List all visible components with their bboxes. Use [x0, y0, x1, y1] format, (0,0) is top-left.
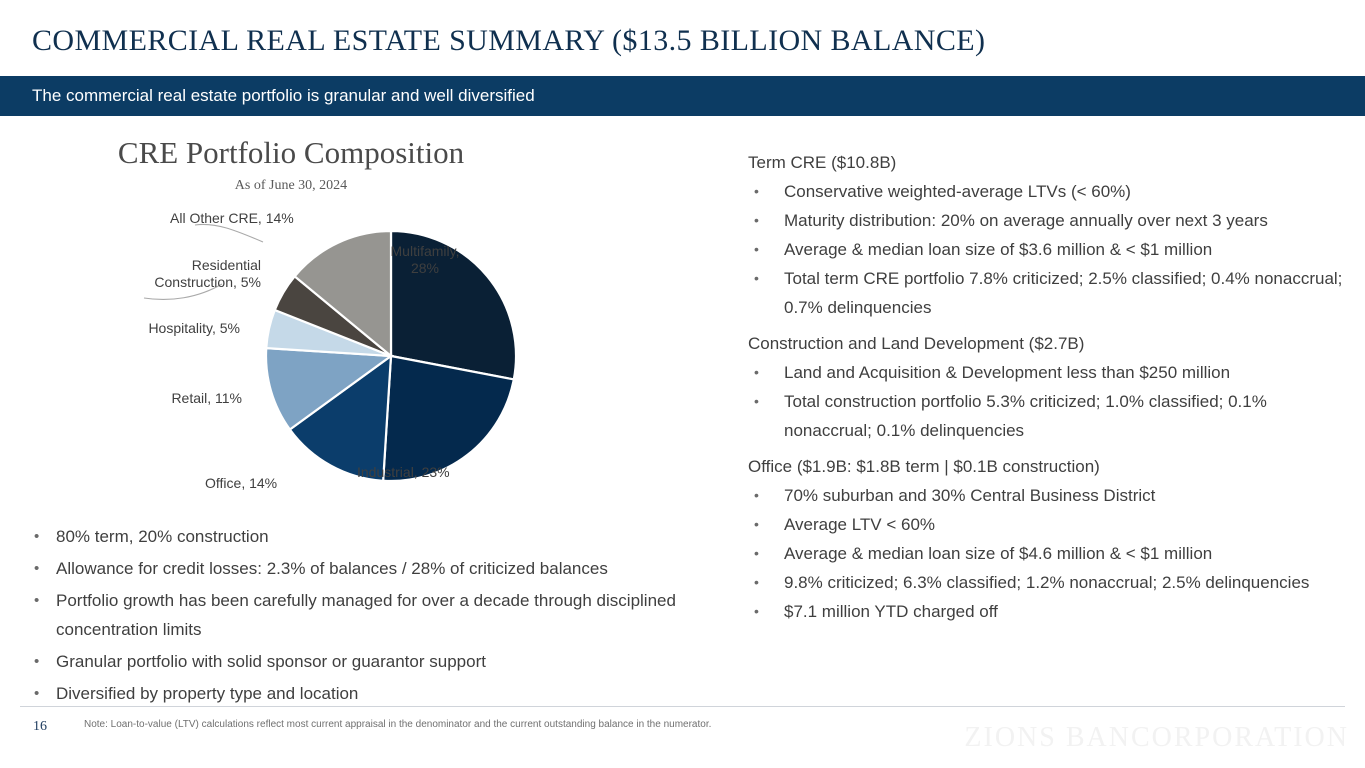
- bullet-dot-icon: •: [748, 568, 784, 597]
- bullet-dot-icon: •: [748, 264, 784, 293]
- pie-label-all-other-cre: All Other CRE, 14%: [170, 210, 294, 227]
- section-bullet-text: Maturity distribution: 20% on average an…: [784, 206, 1268, 235]
- left-bullet-text: Granular portfolio with solid sponsor or…: [56, 647, 486, 676]
- cre-portfolio-pie-chart: CRE Portfolio Composition As of June 30,…: [20, 130, 730, 505]
- section-bullet-item: •Maturity distribution: 20% on average a…: [748, 206, 1348, 235]
- pie-label-industrial: Industrial, 23%: [357, 464, 450, 481]
- footer-divider: [20, 706, 1345, 707]
- section-bullet-item: •Average & median loan size of $4.6 mill…: [748, 539, 1348, 568]
- bullet-dot-icon: •: [748, 481, 784, 510]
- subtitle-band: The commercial real estate portfolio is …: [0, 76, 1365, 116]
- leader-line-all-other-cre: [195, 224, 263, 242]
- section-bullet-text: Average & median loan size of $3.6 milli…: [784, 235, 1212, 264]
- left-bullet-item: •80% term, 20% construction: [28, 522, 738, 551]
- left-bullet-text: 80% term, 20% construction: [56, 522, 269, 551]
- bullet-dot-icon: •: [28, 554, 56, 583]
- section-heading: Office ($1.9B: $1.8B term | $0.1B constr…: [748, 454, 1348, 480]
- left-bullet-text: Diversified by property type and locatio…: [56, 679, 358, 708]
- left-bullet-text: Allowance for credit losses: 2.3% of bal…: [56, 554, 608, 583]
- section-bullet-text: Conservative weighted-average LTVs (< 60…: [784, 177, 1131, 206]
- pie-svg: [20, 130, 730, 505]
- bullet-dot-icon: •: [748, 387, 784, 416]
- bullet-dot-icon: •: [748, 597, 784, 626]
- bullet-dot-icon: •: [28, 679, 56, 708]
- bullet-dot-icon: •: [28, 647, 56, 676]
- footnote-text: Note: Loan-to-value (LTV) calculations r…: [84, 719, 711, 730]
- section-bullet-text: Total term CRE portfolio 7.8% criticized…: [784, 264, 1348, 322]
- section-bullet-text: Land and Acquisition & Development less …: [784, 358, 1230, 387]
- section-bullet-item: •Total term CRE portfolio 7.8% criticize…: [748, 264, 1348, 322]
- subtitle-text: The commercial real estate portfolio is …: [32, 86, 535, 106]
- pie-label-residential-construction: Residential Construction, 5%: [131, 257, 261, 291]
- section-bullet-item: •Land and Acquisition & Development less…: [748, 358, 1348, 387]
- section-bullet-item: •Average & median loan size of $3.6 mill…: [748, 235, 1348, 264]
- left-bullet-item: •Allowance for credit losses: 2.3% of ba…: [28, 554, 738, 583]
- bullet-dot-icon: •: [748, 539, 784, 568]
- pie-label-retail: Retail, 11%: [162, 390, 242, 407]
- section-bullet-item: •70% suburban and 30% Central Business D…: [748, 481, 1348, 510]
- section-bullet-item: •Conservative weighted-average LTVs (< 6…: [748, 177, 1348, 206]
- pie-label-office: Office, 14%: [205, 475, 277, 492]
- right-detail-column: Term CRE ($10.8B)•Conservative weighted-…: [748, 150, 1348, 626]
- pie-slice-industrial: [383, 356, 514, 481]
- section-bullet-item: •9.8% criticized; 6.3% classified; 1.2% …: [748, 568, 1348, 597]
- left-bullet-item: •Portfolio growth has been carefully man…: [28, 586, 738, 644]
- pie-label-multifamily: Multifamily, 28%: [375, 243, 475, 277]
- page-title: COMMERCIAL REAL ESTATE SUMMARY ($13.5 BI…: [32, 24, 985, 58]
- bullet-dot-icon: •: [28, 586, 56, 615]
- bullet-dot-icon: •: [748, 358, 784, 387]
- section-bullet-item: •Total construction portfolio 5.3% criti…: [748, 387, 1348, 445]
- section-bullet-text: Average & median loan size of $4.6 milli…: [784, 539, 1212, 568]
- bullet-dot-icon: •: [748, 510, 784, 539]
- bullet-dot-icon: •: [748, 177, 784, 206]
- pie-label-hospitality: Hospitality, 5%: [140, 320, 240, 337]
- left-bullet-item: •Granular portfolio with solid sponsor o…: [28, 647, 738, 676]
- section-bullet-text: 9.8% criticized; 6.3% classified; 1.2% n…: [784, 568, 1309, 597]
- section-bullet-text: 70% suburban and 30% Central Business Di…: [784, 481, 1155, 510]
- section-bullet-text: Total construction portfolio 5.3% critic…: [784, 387, 1348, 445]
- section-heading: Construction and Land Development ($2.7B…: [748, 331, 1348, 357]
- bullet-dot-icon: •: [748, 235, 784, 264]
- section-bullet-item: •Average LTV < 60%: [748, 510, 1348, 539]
- pie-graphic-area: All Other CRE, 14% Residential Construct…: [20, 130, 730, 505]
- page-number: 16: [33, 719, 47, 735]
- section-bullet-item: •$7.1 million YTD charged off: [748, 597, 1348, 626]
- zions-bancorporation-logo: ZIONS BANCORPORATION: [964, 722, 1349, 754]
- bullet-dot-icon: •: [748, 206, 784, 235]
- left-bullet-list: •80% term, 20% construction•Allowance fo…: [28, 522, 738, 711]
- section-bullet-text: Average LTV < 60%: [784, 510, 935, 539]
- bullet-dot-icon: •: [28, 522, 56, 551]
- section-bullet-text: $7.1 million YTD charged off: [784, 597, 998, 626]
- section-heading: Term CRE ($10.8B): [748, 150, 1348, 176]
- left-bullet-text: Portfolio growth has been carefully mana…: [56, 586, 738, 644]
- left-bullet-item: •Diversified by property type and locati…: [28, 679, 738, 708]
